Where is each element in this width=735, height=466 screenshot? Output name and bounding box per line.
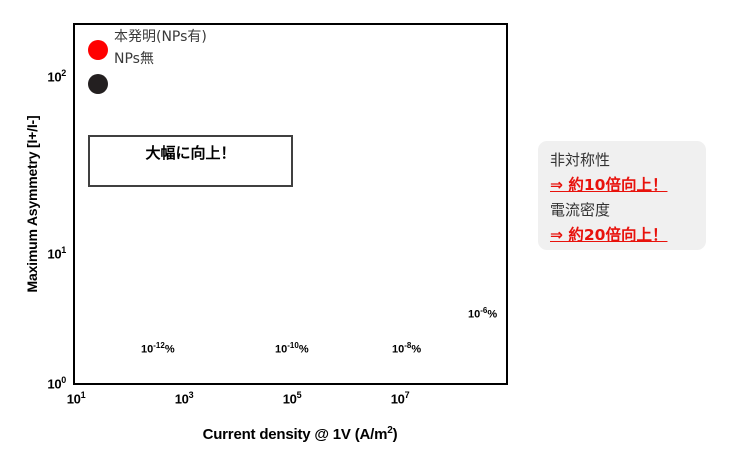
legend-label-no-nps: NPs無 (114, 48, 154, 68)
x-tick-1e3: 103 (166, 390, 202, 406)
x-tick-1e5-exp: 5 (297, 390, 302, 400)
y-tick-1e0: 100 (18, 375, 66, 391)
contour-label-1e-10-suffix: % (299, 344, 309, 356)
summary-line-current-value: ⇒ 約20倍向上！ (550, 223, 667, 245)
y-tick-1e0-exp: 0 (61, 375, 66, 385)
summary-panel: 非対称性 ⇒ 約10倍向上！ 電流密度 ⇒ 約20倍向上！ (538, 141, 706, 250)
x-tick-1e5: 105 (274, 390, 310, 406)
callout-text: 大幅に向上！ (88, 142, 293, 163)
x-axis-title-tail: ) (393, 426, 398, 443)
x-tick-1e1-exp: 1 (81, 390, 86, 400)
chart-figure: 102 101 100 101 103 105 107 Current dens… (0, 0, 735, 466)
contour-label-1e-8-suffix: % (411, 344, 421, 356)
contour-label-1e-12-exp: -12 (153, 341, 165, 350)
legend-label-invention: 本発明(NPs有) (114, 26, 207, 46)
contour-label-1e-12-suffix: % (165, 344, 175, 356)
contour-label-1e-8: 10-8% (392, 341, 421, 356)
y-tick-1e1-exp: 1 (61, 245, 66, 255)
contour-label-1e-10: 10-10% (275, 341, 309, 356)
x-axis-title: Current density @ 1V (A/m2) (120, 425, 480, 443)
legend: 本発明(NPs有) NPs無 (86, 26, 266, 88)
x-tick-1e7-exp: 7 (405, 390, 410, 400)
contour-label-1e-6: 10-6% (468, 306, 497, 321)
contour-label-1e-6-suffix: % (487, 309, 497, 321)
x-axis-title-text: Current density @ 1V (A/m (203, 426, 388, 443)
summary-line-asymmetry-label: 非対称性 (550, 149, 610, 170)
x-tick-1e7: 107 (382, 390, 418, 406)
contour-label-1e-10-exp: -10 (287, 341, 299, 350)
y-tick-1e2-exp: 2 (61, 68, 66, 78)
summary-line-asymmetry-value: ⇒ 約10倍向上！ (550, 173, 667, 195)
legend-marker-invention (88, 40, 108, 60)
contour-label-1e-12: 10-12% (141, 341, 175, 356)
legend-marker-no-nps (88, 74, 108, 94)
summary-line-current-label: 電流密度 (550, 199, 610, 220)
y-axis-title: Maximum Asymmetry [I+/I-] (24, 64, 40, 344)
x-tick-1e1: 101 (58, 390, 94, 406)
x-tick-1e3-exp: 3 (189, 390, 194, 400)
